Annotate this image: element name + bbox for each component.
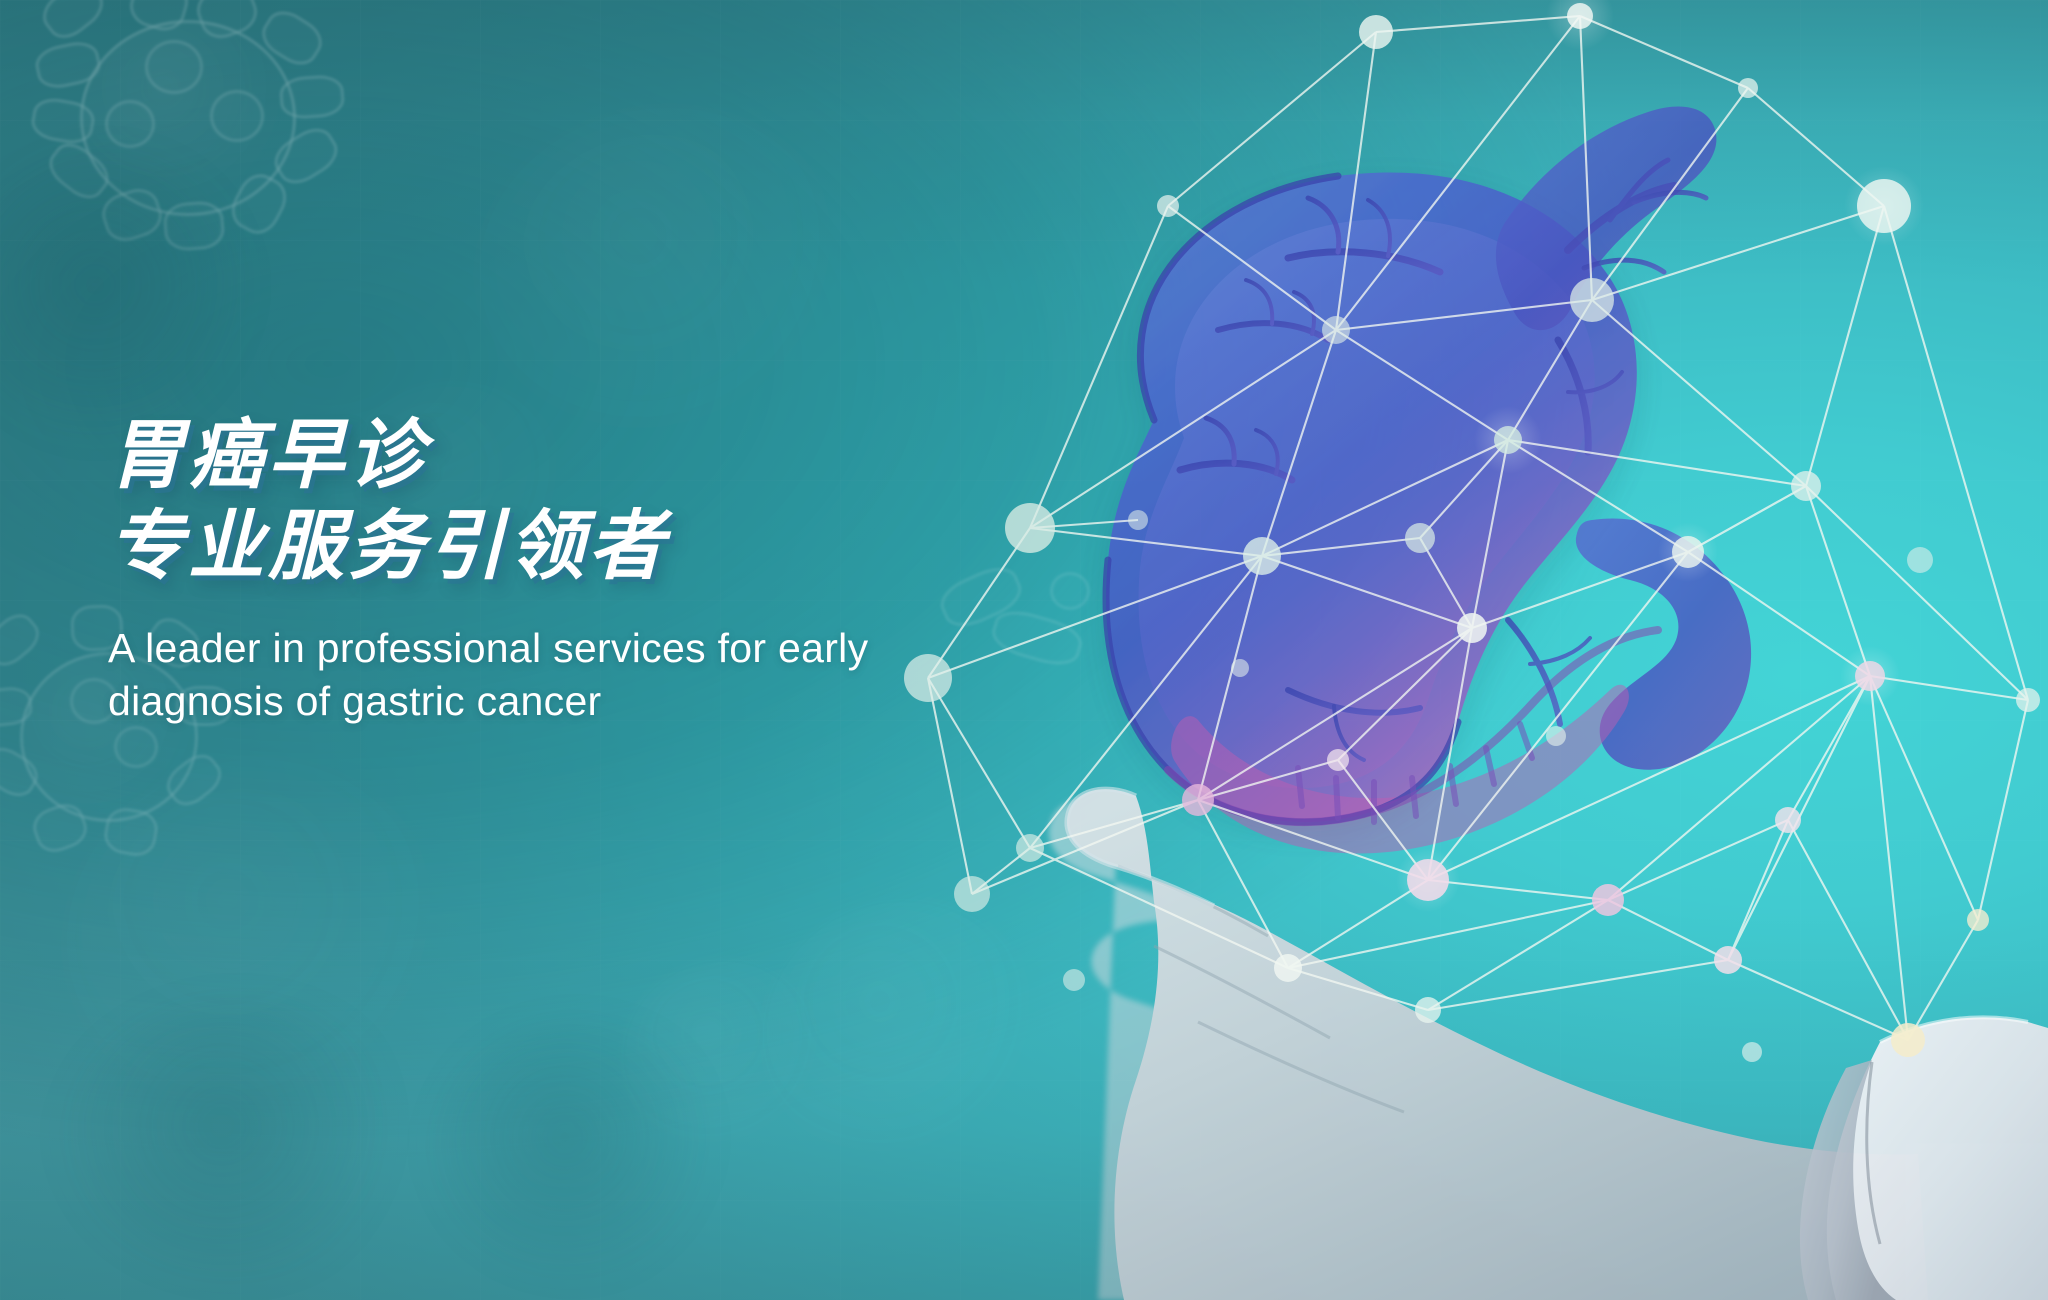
- subtitle-line-2: diagnosis of gastric cancer: [108, 678, 602, 724]
- subtitle-line-1: A leader in professional services for ea…: [108, 625, 868, 671]
- lab-coat-sleeve: [1800, 1017, 2048, 1300]
- subtitle-text: A leader in professional services for ea…: [108, 622, 928, 729]
- headline-line-2: 专业服务引领者: [108, 503, 1108, 592]
- headline-line-1: 胃癌早诊: [108, 412, 1108, 501]
- stomach-organ: [1106, 107, 1751, 854]
- headline-block: 胃癌早诊 专业服务引领者 A leader in professional se…: [108, 412, 1108, 728]
- open-palm-hand: [1049, 789, 1928, 1300]
- banner-root: 胃癌早诊 专业服务引领者 A leader in professional se…: [0, 0, 2048, 1300]
- hand-palm: [1067, 789, 1928, 1300]
- shadow-blob-bottom-left: [60, 1000, 420, 1280]
- shadow-blob-bottom-center: [430, 1020, 730, 1280]
- page-title: 胃癌早诊 专业服务引领者: [108, 412, 1108, 592]
